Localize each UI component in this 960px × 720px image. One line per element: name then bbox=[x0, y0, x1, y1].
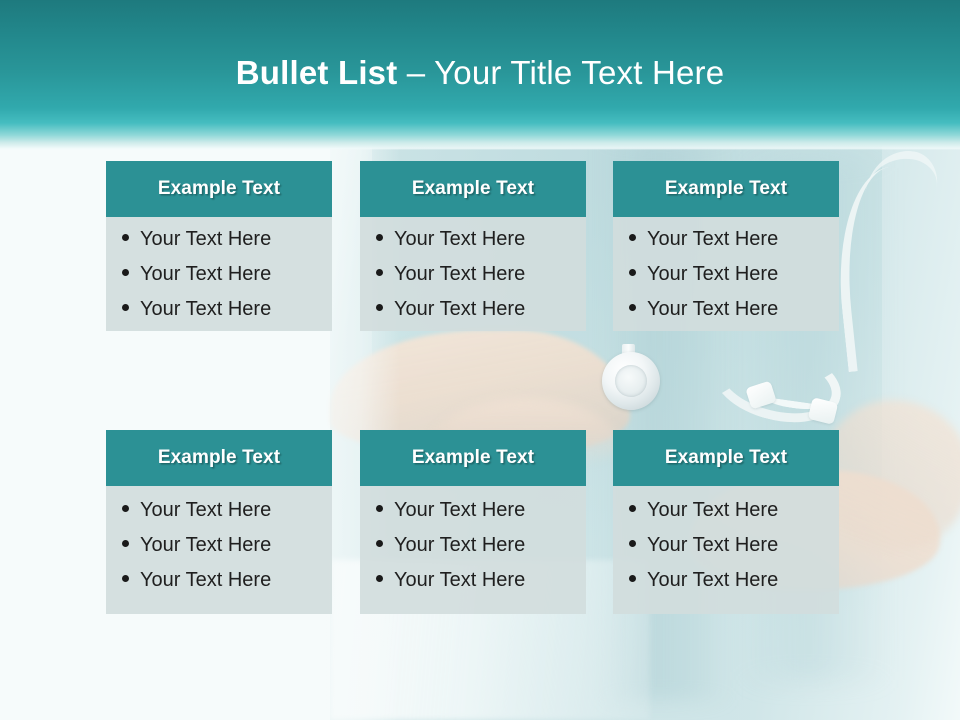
list-item: Your Text Here bbox=[122, 264, 326, 299]
bullet-dot-icon bbox=[122, 234, 129, 241]
card-body-6: Your Text Here Your Text Here Your Text … bbox=[613, 486, 839, 614]
list-item: Your Text Here bbox=[376, 229, 580, 264]
title-regular-part: – Your Title Text Here bbox=[407, 54, 724, 91]
bullet-text: Your Text Here bbox=[140, 229, 271, 249]
bullet-card-4[interactable]: Example Text Your Text Here Your Text He… bbox=[106, 430, 332, 614]
list-item: Your Text Here bbox=[122, 570, 326, 605]
list-item: Your Text Here bbox=[629, 570, 833, 605]
title-bold-part: Bullet List bbox=[236, 54, 407, 91]
bullet-text: Your Text Here bbox=[140, 570, 271, 590]
list-item: Your Text Here bbox=[122, 535, 326, 570]
card-body-5: Your Text Here Your Text Here Your Text … bbox=[360, 486, 586, 614]
bullet-dot-icon bbox=[376, 269, 383, 276]
bullet-text: Your Text Here bbox=[140, 500, 271, 520]
list-item: Your Text Here bbox=[122, 500, 326, 535]
bullet-dot-icon bbox=[122, 505, 129, 512]
bullet-dot-icon bbox=[629, 540, 636, 547]
card-header-6: Example Text bbox=[613, 430, 839, 486]
bullet-dot-icon bbox=[376, 575, 383, 582]
bullet-dot-icon bbox=[629, 304, 636, 311]
card-body-2: Your Text Here Your Text Here Your Text … bbox=[360, 217, 586, 331]
bullet-dot-icon bbox=[376, 234, 383, 241]
bullet-dot-icon bbox=[122, 269, 129, 276]
bullet-text: Your Text Here bbox=[140, 264, 271, 284]
bullet-text: Your Text Here bbox=[140, 535, 271, 555]
bullet-card-2[interactable]: Example Text Your Text Here Your Text He… bbox=[360, 161, 586, 331]
bullet-text: Your Text Here bbox=[647, 535, 778, 555]
bullet-text: Your Text Here bbox=[394, 299, 525, 319]
bullet-dot-icon bbox=[122, 575, 129, 582]
bullet-dot-icon bbox=[629, 234, 636, 241]
bullet-dot-icon bbox=[376, 505, 383, 512]
bullet-card-6[interactable]: Example Text Your Text Here Your Text He… bbox=[613, 430, 839, 614]
list-item: Your Text Here bbox=[629, 500, 833, 535]
bullet-dot-icon bbox=[629, 575, 636, 582]
bullet-dot-icon bbox=[376, 540, 383, 547]
bullet-card-1[interactable]: Example Text Your Text Here Your Text He… bbox=[106, 161, 332, 331]
list-item: Your Text Here bbox=[629, 229, 833, 264]
bullet-text: Your Text Here bbox=[647, 570, 778, 590]
card-body-4: Your Text Here Your Text Here Your Text … bbox=[106, 486, 332, 614]
bullet-text: Your Text Here bbox=[647, 264, 778, 284]
card-header-1: Example Text bbox=[106, 161, 332, 217]
bullet-text: Your Text Here bbox=[647, 299, 778, 319]
card-header-5: Example Text bbox=[360, 430, 586, 486]
bullet-dot-icon bbox=[629, 505, 636, 512]
presentation-slide: Bullet List – Your Title Text Here Examp… bbox=[0, 0, 960, 720]
bullet-dot-icon bbox=[629, 269, 636, 276]
list-item: Your Text Here bbox=[376, 535, 580, 570]
list-item: Your Text Here bbox=[376, 570, 580, 605]
bullet-text: Your Text Here bbox=[647, 229, 778, 249]
bullet-text: Your Text Here bbox=[394, 264, 525, 284]
card-header-4: Example Text bbox=[106, 430, 332, 486]
page-title: Bullet List – Your Title Text Here bbox=[0, 54, 960, 92]
list-item: Your Text Here bbox=[629, 299, 833, 334]
bullet-text: Your Text Here bbox=[394, 229, 525, 249]
card-header-3: Example Text bbox=[613, 161, 839, 217]
bullet-text: Your Text Here bbox=[140, 299, 271, 319]
list-item: Your Text Here bbox=[629, 264, 833, 299]
list-item: Your Text Here bbox=[376, 299, 580, 334]
bullet-dot-icon bbox=[376, 304, 383, 311]
bullet-text: Your Text Here bbox=[394, 570, 525, 590]
list-item: Your Text Here bbox=[376, 264, 580, 299]
list-item: Your Text Here bbox=[629, 535, 833, 570]
bullet-card-3[interactable]: Example Text Your Text Here Your Text He… bbox=[613, 161, 839, 331]
card-header-2: Example Text bbox=[360, 161, 586, 217]
bullet-text: Your Text Here bbox=[394, 535, 525, 555]
stethoscope-chestpiece-icon bbox=[602, 352, 660, 410]
bullet-text: Your Text Here bbox=[394, 500, 525, 520]
bullet-card-5[interactable]: Example Text Your Text Here Your Text He… bbox=[360, 430, 586, 614]
card-body-3: Your Text Here Your Text Here Your Text … bbox=[613, 217, 839, 331]
bullet-dot-icon bbox=[122, 540, 129, 547]
bullet-text: Your Text Here bbox=[647, 500, 778, 520]
bullet-dot-icon bbox=[122, 304, 129, 311]
card-body-1: Your Text Here Your Text Here Your Text … bbox=[106, 217, 332, 331]
list-item: Your Text Here bbox=[122, 229, 326, 264]
list-item: Your Text Here bbox=[122, 299, 326, 334]
list-item: Your Text Here bbox=[376, 500, 580, 535]
